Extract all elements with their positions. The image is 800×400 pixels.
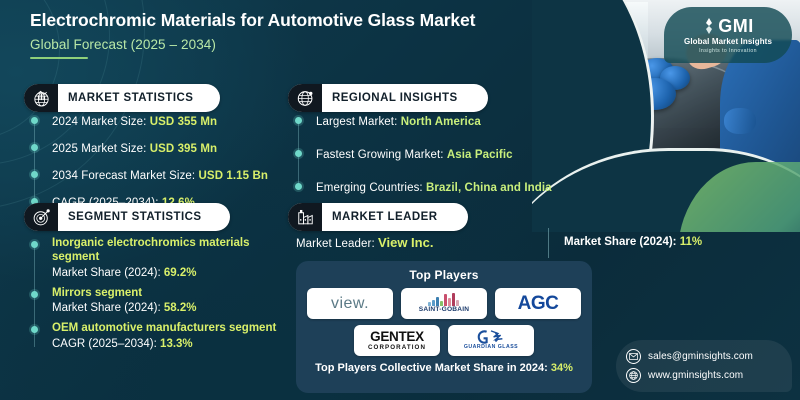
logo-tile-gentex[interactable]: GENTEX CORPORATION [354, 325, 440, 356]
segment-metric: Market Share (2024): 69.2% [52, 267, 284, 279]
market-leader-line: Market Leader: View Inc. [296, 235, 433, 250]
regional-insights-list: Largest Market: North America Fastest Gr… [298, 112, 568, 196]
segment-metric-value: 69.2% [164, 267, 197, 279]
logo-tile-guardian-glass[interactable]: GUARDIAN GLASS [448, 325, 534, 356]
stat-label: Largest Market: [316, 116, 401, 128]
stat-label: 2025 Market Size: [52, 143, 150, 155]
stat-row: Emerging Countries: Brazil, China and In… [298, 178, 568, 196]
globe-icon [626, 368, 641, 383]
gentex-logo-text: GENTEX [370, 330, 424, 344]
stat-row: 2025 Market Size: USD 395 Mn [34, 139, 284, 157]
timeline-dot [31, 171, 38, 178]
section-header-market-leader: MARKET LEADER [288, 203, 468, 231]
gentex-logo: GENTEX CORPORATION [368, 330, 426, 351]
factory-icon [296, 208, 315, 227]
section-header-regional-insights: REGIONAL INSIGHTS [288, 84, 488, 112]
section-label: REGIONAL INSIGHTS [322, 92, 472, 104]
timeline-dot [31, 326, 38, 333]
top-players-title: Top Players [306, 268, 582, 282]
page-title: Electrochromic Materials for Automotive … [30, 10, 500, 31]
logo-tile-saint-gobain[interactable]: SAINT-GOBAIN [401, 288, 487, 319]
stat-label: Emerging Countries: [316, 182, 426, 194]
stat-value: USD 395 Mn [150, 143, 217, 155]
timeline-dot [295, 117, 302, 124]
timeline-dot [31, 144, 38, 151]
globe-icon [296, 89, 315, 108]
saint-gobain-skyline-icon [428, 293, 459, 306]
stat-value: North America [401, 116, 481, 128]
stat-value: Asia Pacific [447, 149, 513, 161]
top-players-panel: Top Players view. SAINT-GOBAIN AGC [296, 261, 592, 393]
stat-row: Fastest Growing Market: Asia Pacific [298, 145, 568, 163]
stat-label: 2034 Forecast Market Size: [52, 170, 199, 182]
market-share-line: Market Share (2024): 11% [564, 236, 702, 248]
contact-website: www.gminsights.com [648, 370, 743, 381]
photo-glove [724, 108, 756, 134]
section-label: MARKET LEADER [322, 211, 452, 223]
gmi-wordmark: GMI [718, 17, 754, 35]
segment-row: Inorganic electrochromics materials segm… [34, 236, 284, 279]
segment-metric-value: 13.3% [160, 338, 193, 350]
guardian-glass-logo-text: GUARDIAN GLASS [464, 345, 518, 350]
logo-tile-view[interactable]: view. [307, 288, 393, 319]
globe-chart-icon [32, 89, 51, 108]
share-divider [548, 228, 549, 258]
section-label: SEGMENT STATISTICS [58, 211, 216, 223]
badge-segment-statistics [24, 203, 58, 231]
market-leader-value: View Inc. [378, 235, 433, 250]
agc-logo-text: AGC [518, 293, 559, 315]
gmi-full-name: Global Market Insights [684, 37, 772, 46]
segment-metric-value: 58.2% [164, 302, 197, 314]
logo-row-2: GENTEX CORPORATION GUARDIAN GLASS [306, 325, 582, 356]
segment-name: Mirrors segment [52, 286, 284, 300]
globe-glyph [629, 371, 638, 380]
timeline-line [34, 120, 35, 201]
market-leader-label: Market Leader: [296, 238, 378, 250]
contact-email: sales@gminsights.com [648, 351, 753, 362]
envelope-icon [626, 349, 641, 364]
header: Electrochromic Materials for Automotive … [30, 10, 500, 59]
segment-name: Inorganic electrochromics materials segm… [52, 236, 284, 265]
market-share-value: 11% [680, 236, 702, 248]
segment-metric-label: Market Share (2024): [52, 267, 164, 279]
segment-metric: Market Share (2024): 58.2% [52, 302, 284, 314]
market-statistics-list: 2024 Market Size: USD 355 Mn 2025 Market… [34, 112, 284, 211]
section-header-segment-statistics: SEGMENT STATISTICS [24, 203, 230, 231]
badge-regional-insights [288, 84, 322, 112]
view-logo-text: view. [331, 295, 369, 313]
stat-label: Fastest Growing Market: [316, 149, 447, 161]
stat-value: USD 1.15 Bn [199, 170, 268, 182]
photo-window [602, 2, 648, 58]
contact-website-row[interactable]: www.gminsights.com [626, 368, 782, 383]
subtitle-underline [30, 57, 88, 59]
stat-row: 2034 Forecast Market Size: USD 1.15 Bn [34, 166, 284, 184]
envelope-glyph [629, 352, 638, 361]
badge-market-statistics [24, 84, 58, 112]
gmi-diamond-icon [702, 18, 716, 34]
saint-gobain-logo: SAINT-GOBAIN [419, 293, 469, 314]
stat-value: Brazil, China and India [426, 182, 552, 194]
segment-metric: CAGR (2025–2034): 13.3% [52, 338, 284, 350]
segment-row: OEM automotive manufacturers segment CAG… [34, 321, 284, 349]
timeline-dot [295, 183, 302, 190]
contact-block: sales@gminsights.com www.gminsights.com [616, 340, 792, 392]
segment-row: Mirrors segment Market Share (2024): 58.… [34, 286, 284, 314]
photo-window [538, 4, 568, 58]
logo-tile-agc[interactable]: AGC [495, 288, 581, 319]
collective-share-value: 34% [551, 362, 573, 374]
segment-metric-label: CAGR (2025–2034): [52, 338, 160, 350]
gmi-logo-top: GMI [702, 17, 754, 35]
timeline-dot [31, 241, 38, 248]
photo-suction-cup [634, 78, 676, 110]
timeline-dot [31, 291, 38, 298]
stat-label: 2024 Market Size: [52, 116, 150, 128]
gmi-tagline: Insights to Innovation [699, 48, 757, 54]
infographic-canvas: GMI Global Market Insights Insights to I… [0, 0, 800, 400]
collective-share-label: Top Players Collective Market Share in 2… [315, 362, 551, 374]
segment-statistics-list: Inorganic electrochromics materials segm… [34, 236, 284, 357]
segment-metric-label: Market Share (2024): [52, 302, 164, 314]
section-label: MARKET STATISTICS [58, 92, 207, 104]
badge-market-leader [288, 203, 322, 231]
section-header-market-statistics: MARKET STATISTICS [24, 84, 220, 112]
market-share-label: Market Share (2024): [564, 236, 680, 248]
photo-pillar [584, 0, 595, 60]
segment-name: OEM automotive manufacturers segment [52, 321, 284, 335]
contact-email-row[interactable]: sales@gminsights.com [626, 349, 782, 364]
top-players-footer: Top Players Collective Market Share in 2… [306, 362, 582, 374]
gmi-logo: GMI Global Market Insights Insights to I… [664, 7, 792, 63]
guardian-g-icon [476, 330, 506, 344]
target-icon [32, 208, 51, 227]
photo-technician [720, 40, 800, 232]
guardian-glass-logo: GUARDIAN GLASS [464, 330, 518, 350]
stat-value: USD 355 Mn [150, 116, 217, 128]
gentex-logo-subtext: CORPORATION [368, 345, 426, 351]
stat-row: 2024 Market Size: USD 355 Mn [34, 112, 284, 130]
logo-row-1: view. SAINT-GOBAIN AGC [306, 288, 582, 319]
page-subtitle: Global Forecast (2025 – 2034) [30, 37, 500, 52]
stat-row: Largest Market: North America [298, 112, 568, 130]
timeline-dot [31, 117, 38, 124]
timeline-dot [295, 150, 302, 157]
saint-gobain-logo-text: SAINT-GOBAIN [419, 307, 469, 314]
